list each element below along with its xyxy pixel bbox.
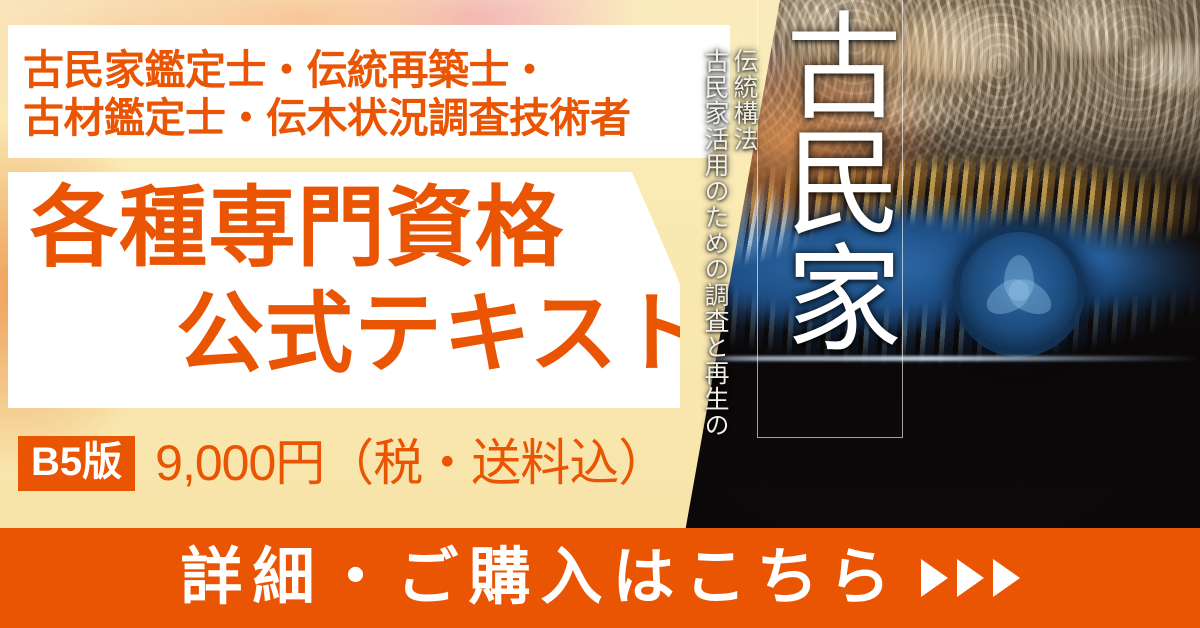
headline-line-1: 各種専門資格 [30, 184, 564, 272]
headline-line-2: 公式テキスト [176, 290, 707, 378]
headline-box: 各種専門資格 公式テキスト [8, 172, 680, 408]
price-row: B5版 9,000円（税・送料込） [18, 432, 667, 494]
triangle-right-icon [993, 559, 1020, 597]
book-cover-subtitle: 伝統構法 古民家活用のための調査と再生の [700, 48, 758, 548]
book-cover-subtitle-column-1: 伝統構法 [729, 48, 758, 548]
book-cover-title: 古民家 [766, 6, 894, 354]
qualifications-line-2: 古材鑑定士・伝木状況調査技術者 [23, 95, 631, 143]
cta-arrow-group [921, 559, 1020, 597]
triangle-right-icon [921, 559, 948, 597]
triangle-right-icon [957, 559, 984, 597]
qualifications-line-1: 古民家鑑定士・伝統再築士・ [23, 47, 631, 95]
promo-banner: 古民家 伝統構法 古民家活用のための調査と再生の 古民家鑑定士・伝統再築士・ 古… [0, 0, 1200, 628]
price-amount: 9,000円（税・送料込） [155, 438, 667, 488]
qualifications-text: 古民家鑑定士・伝統再築士・ 古材鑑定士・伝木状況調査技術者 [23, 47, 631, 142]
cta-label: 詳細・ご購入はこちら [180, 547, 900, 609]
size-badge: B5版 [18, 436, 135, 491]
book-cover-subtitle-column-2: 古民家活用のための調査と再生の [700, 48, 729, 548]
cta-button-bar[interactable]: 詳細・ご購入はこちら [0, 528, 1200, 628]
qualifications-box: 古民家鑑定士・伝統再築士・ 古材鑑定士・伝木状況調査技術者 [8, 25, 730, 158]
